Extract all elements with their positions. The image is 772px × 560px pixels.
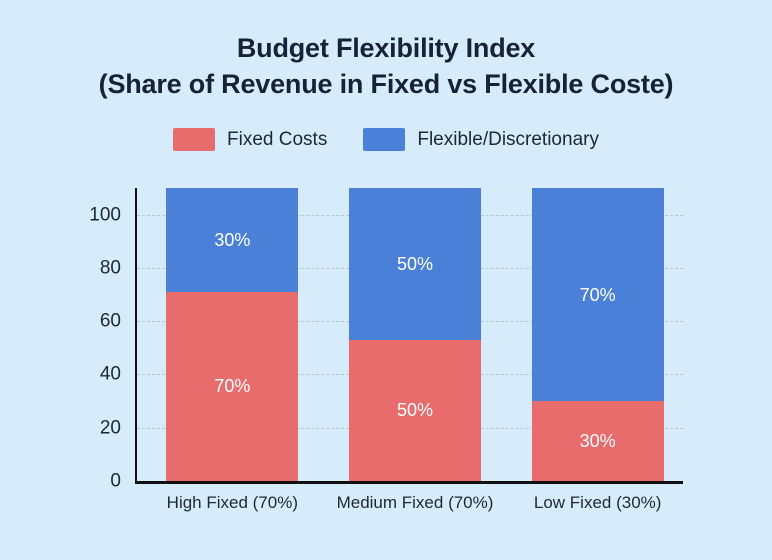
legend-swatch-icon-flexible-discretionary	[363, 128, 405, 151]
bar-data-label: 30%	[580, 432, 616, 450]
bar-data-label: 70%	[214, 377, 250, 395]
y-axis-tick-label: 20	[100, 418, 121, 437]
bar-data-label: 50%	[397, 255, 433, 273]
x-axis-line	[135, 481, 683, 484]
bar-group[interactable]: 30%70%Low Fixed (30%)	[532, 188, 664, 481]
x-axis-tick-label: Low Fixed (30%)	[534, 493, 662, 513]
y-axis-tick-label: 40	[100, 365, 121, 384]
x-axis-tick-label: High Fixed (70%)	[167, 493, 298, 513]
bar-segment[interactable]: 50%	[349, 188, 481, 340]
bar-segment[interactable]: 70%	[532, 188, 664, 401]
x-axis-tick-label: Medium Fixed (70%)	[337, 493, 494, 513]
legend-swatch-icon-fixed-costs	[173, 128, 215, 151]
y-axis-tick-label: 60	[100, 312, 121, 331]
bar-data-label: 50%	[397, 401, 433, 419]
y-axis-tick-label: 80	[100, 258, 121, 277]
bar-segment[interactable]: 50%	[349, 340, 481, 481]
y-axis-tick-label: 100	[89, 205, 121, 224]
chart-legend: Fixed Costs Flexible/Discretionary	[0, 128, 772, 151]
bar-data-label: 70%	[580, 286, 616, 304]
chart-title-line-2: (Share of Revenue in Fixed vs Flexible C…	[0, 66, 772, 102]
legend-label-fixed-costs: Fixed Costs	[227, 128, 327, 151]
page-title: Budget Flexibility Index (Share of Reven…	[0, 30, 772, 102]
bar-group[interactable]: 70%30%High Fixed (70%)	[166, 188, 298, 481]
y-axis-tick-label: 0	[110, 472, 121, 491]
bar-segment[interactable]: 30%	[532, 401, 664, 481]
y-axis-line	[135, 188, 137, 484]
chart-plot-area: 020406080100 70%30%High Fixed (70%)50%50…	[135, 188, 683, 484]
legend-label-flexible-discretionary: Flexible/Discretionary	[417, 128, 599, 151]
bar-group[interactable]: 50%50%Medium Fixed (70%)	[349, 188, 481, 481]
legend-item-fixed-costs[interactable]: Fixed Costs	[173, 128, 327, 151]
bar-segment[interactable]: 30%	[166, 188, 298, 292]
chart-title-line-1: Budget Flexibility Index	[0, 30, 772, 66]
legend-item-flexible-discretionary[interactable]: Flexible/Discretionary	[363, 128, 599, 151]
bar-data-label: 30%	[214, 231, 250, 249]
bar-segment[interactable]: 70%	[166, 292, 298, 481]
